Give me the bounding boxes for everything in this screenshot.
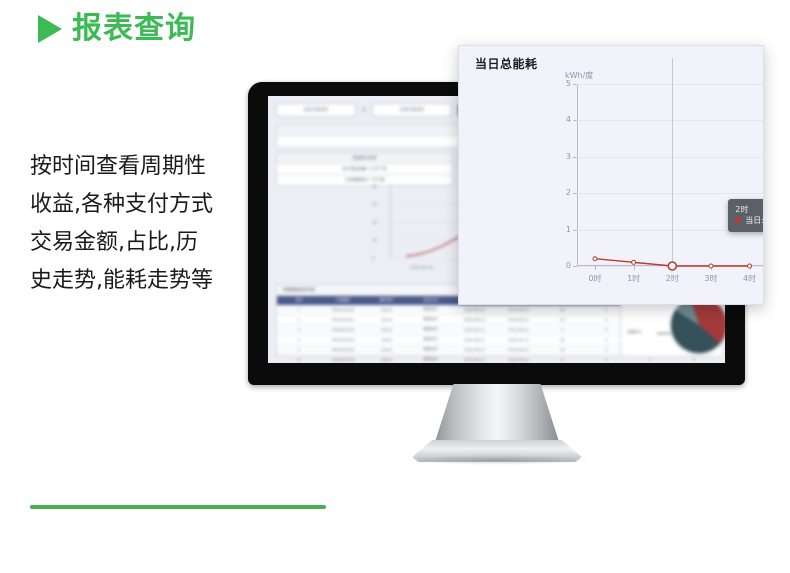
table-cell: 微信支付 — [409, 305, 453, 314]
table-cell: 2020-06-12 — [497, 335, 541, 344]
page-title: 报表查询 — [72, 14, 196, 44]
chart-x-tick-mark — [595, 266, 596, 270]
table-column-header: 订单编号 — [321, 296, 365, 305]
chart-y-tick-label: 0 — [557, 262, 571, 270]
chart-x-tick-label: 4时 — [743, 273, 756, 284]
table-cell: 1 — [277, 305, 321, 314]
table-cell: 0 — [540, 325, 584, 334]
chart-x-tick-label: 1时 — [627, 273, 640, 284]
table-cell: 2020-06-12 — [453, 355, 497, 363]
chart-x-tick-mark — [634, 266, 635, 270]
chart-x-tick-label: 2时 — [666, 273, 679, 284]
end-date-value: 结束日期选择 — [400, 107, 424, 114]
table-cell: admin — [365, 315, 409, 324]
start-date-input[interactable]: 起始日期选择 — [276, 103, 356, 117]
pie-slice-label: 余额支付 — [627, 330, 641, 335]
chart-y-tick-label: 2 — [557, 189, 571, 197]
table-cell: 2020-06-12 — [497, 305, 541, 314]
pie-chart — [671, 297, 725, 353]
pie-leader-line — [657, 333, 671, 334]
revenue-amount-row: 合计收益金额: 1,277.50 — [277, 164, 452, 175]
section-divider — [30, 505, 326, 509]
monitor-stand-shadow — [404, 455, 590, 465]
bg-chart-xlabel: 2020-06-05 — [410, 265, 433, 270]
chart-x-tick-label: 3时 — [704, 273, 717, 284]
revenue-stats-panel: 收益统计信息 合计收益金额: 1,277.50 订单笔数统计: 174 笔 — [276, 152, 453, 186]
table-cell: 微信支付 — [409, 355, 453, 363]
table-column-header: 支付方式 — [409, 296, 453, 305]
table-cell: 20 — [540, 315, 584, 324]
table-cell: TR06220334 — [321, 345, 365, 354]
table-cell: 2020-06-12 — [453, 315, 497, 324]
chart-y-tick-label: 4 — [557, 116, 571, 124]
tooltip-series-marker-icon — [735, 217, 741, 223]
table-cell: TR06220330 — [321, 305, 365, 314]
table-cell: 2020-06-12 — [497, 325, 541, 334]
table-cell: TR06220333 — [321, 335, 365, 344]
table-column-header: 序号 — [277, 296, 321, 305]
table-cell: 3 — [277, 325, 321, 334]
description-line-1: 按时间查看周期性 — [30, 148, 258, 186]
table-cell: 2020-06-12 — [497, 355, 541, 363]
order-count: 订单笔数统计: 174 笔 — [345, 177, 385, 183]
table-cell: 2020-06-12 — [497, 315, 541, 324]
table-cell: admin — [365, 305, 409, 314]
table-cell: TR06220331 — [321, 315, 365, 324]
table-cell: 2020-06-12 — [453, 305, 497, 314]
daily-energy-popup: 当日总能耗 kWh/度 012345 0时1时2时3时4时 2时 当日: 0 — [458, 45, 764, 305]
table-cell: TR06220332 — [321, 325, 365, 334]
description-line-4: 史走势,能耗走势等 — [30, 262, 258, 300]
tooltip-title: 2时 — [735, 204, 764, 215]
table-cell: 2020-06-12 — [453, 335, 497, 344]
table-cell: 20 — [540, 345, 584, 354]
table-cell: 45 — [540, 305, 584, 314]
start-date-value: 起始日期选择 — [304, 107, 328, 114]
tooltip-series-row: 当日: 0 — [735, 215, 764, 226]
table-cell: 5 — [277, 345, 321, 354]
monitor-stand-neck — [433, 384, 561, 448]
popup-chart-title: 当日总能耗 — [475, 55, 538, 72]
table-cell: 8 — [540, 355, 584, 363]
headline: 报表查询 — [38, 14, 196, 44]
chart-y-tick-label: 5 — [557, 80, 571, 88]
tooltip-series-value: 当日: 0 — [745, 215, 764, 226]
table-cell: 微信支付 — [409, 325, 453, 334]
table-cell: admin — [365, 345, 409, 354]
table-cell: 4 — [277, 335, 321, 344]
table-cell: admin — [365, 355, 409, 363]
chart-tooltip: 2时 当日: 0 — [728, 199, 764, 232]
table-caption-label: 明细数据查询列表 — [283, 287, 315, 293]
description-line-3: 交易金额,占比,历 — [30, 224, 258, 262]
description-text: 按时间查看周期性 收益,各种支付方式 交易金额,占比,历 史走势,能耗走势等 — [30, 148, 258, 300]
table-cell: 6 — [277, 355, 321, 363]
table-cell: 2 — [277, 315, 321, 324]
table-cell: 微信支付 — [409, 345, 453, 354]
chart-y-tick-label: 1 — [557, 226, 571, 234]
table-cell: 微信支付 — [409, 335, 453, 344]
table-cell: 2020-06-12 — [497, 345, 541, 354]
table-cell: 2020-06-12 — [453, 345, 497, 354]
revenue-amount: 合计收益金额: 1,277.50 — [342, 166, 386, 172]
table-cell: 30 — [540, 335, 584, 344]
revenue-panel-title: 收益统计信息 — [353, 155, 377, 161]
table-cell: 2020-06-12 — [453, 325, 497, 334]
popup-chart-plot: 012345 0时1时2时3时4时 — [577, 84, 749, 266]
table-cell: TR06220335 — [321, 355, 365, 363]
play-triangle-icon — [38, 15, 62, 43]
table-cell: 微信支付 — [409, 315, 453, 324]
table-cell: admin — [365, 335, 409, 344]
revenue-panel-title-row: 收益统计信息 — [277, 153, 452, 164]
end-date-input[interactable]: 结束日期选择 — [372, 103, 452, 117]
chart-y-tick-mark — [573, 266, 577, 267]
date-range-separator: 至 — [362, 107, 366, 113]
table-cell: admin — [365, 325, 409, 334]
table-column-header: 操作用户 — [365, 296, 409, 305]
chart-y-tick-label: 3 — [557, 153, 571, 161]
chart-x-tick-label: 0时 — [588, 273, 601, 284]
chart-series-line — [577, 84, 763, 266]
description-line-2: 收益,各种支付方式 — [30, 186, 258, 224]
